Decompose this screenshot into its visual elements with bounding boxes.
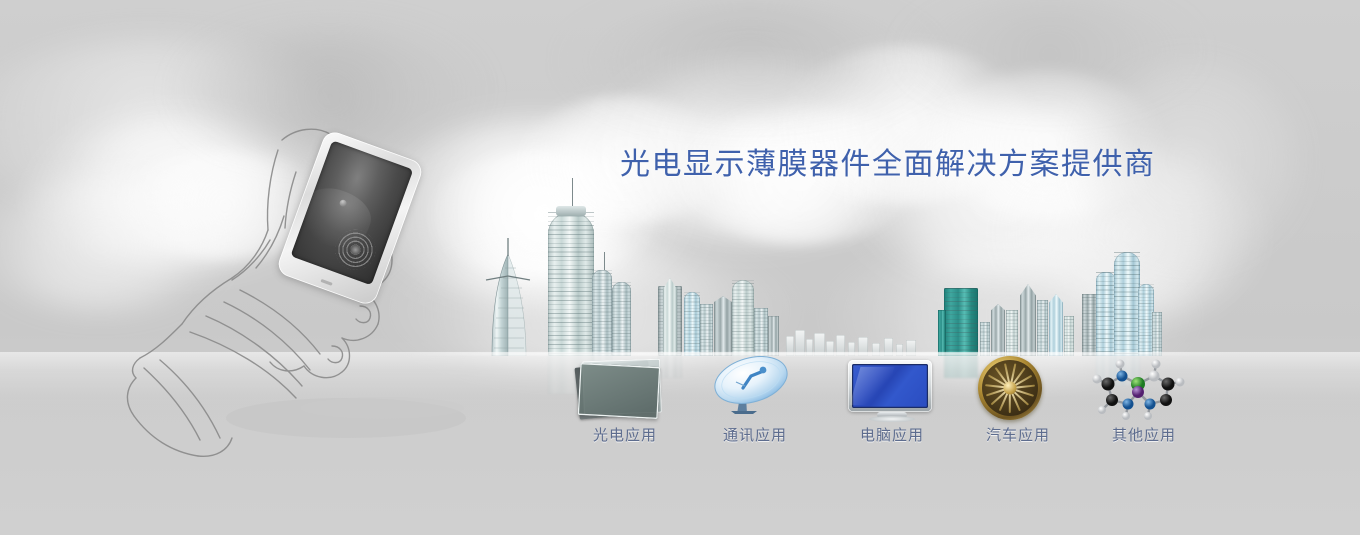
building-right-c bbox=[1006, 310, 1018, 356]
phone-home-button bbox=[320, 279, 332, 286]
building-right-a bbox=[980, 322, 990, 356]
application-icon-row: 光电应用 bbox=[0, 352, 1360, 472]
building-far-c bbox=[1114, 252, 1140, 356]
building-right-e bbox=[1037, 300, 1048, 356]
building-mid-g bbox=[754, 308, 768, 356]
building-mid-h bbox=[768, 316, 779, 356]
building-teal bbox=[944, 288, 978, 356]
satellite-dish-icon bbox=[685, 352, 825, 424]
film-sheets-icon bbox=[555, 352, 695, 424]
building-mid-d bbox=[700, 304, 713, 356]
application-label: 通讯应用 bbox=[685, 424, 825, 445]
building-tower-c bbox=[612, 282, 631, 356]
building-right-b bbox=[991, 304, 1005, 356]
hero-banner: 光电显示薄膜器件全面解决方案提供商 光电应用 bbox=[0, 0, 1360, 535]
building-mid-c bbox=[684, 292, 700, 356]
building-right-g bbox=[1064, 316, 1074, 356]
building-right-f bbox=[1049, 294, 1063, 356]
application-item-automotive[interactable]: 汽车应用 bbox=[948, 352, 1088, 445]
building-mid-f bbox=[732, 280, 754, 356]
building-mid-e bbox=[714, 296, 732, 356]
page-title: 光电显示薄膜器件全面解决方案提供商 bbox=[620, 139, 1156, 183]
building-teal-wing bbox=[938, 310, 946, 356]
monitor-icon bbox=[822, 352, 962, 424]
application-label: 电脑应用 bbox=[822, 424, 962, 445]
building-far-e bbox=[1152, 312, 1162, 356]
molecule-icon bbox=[1074, 352, 1214, 424]
building-tower-b bbox=[592, 270, 612, 356]
application-item-computer[interactable]: 电脑应用 bbox=[822, 352, 962, 445]
application-label: 其他应用 bbox=[1074, 424, 1214, 445]
application-label: 光电应用 bbox=[555, 424, 695, 445]
building-tower-main bbox=[548, 212, 594, 356]
application-item-optoelectronic[interactable]: 光电应用 bbox=[555, 352, 695, 445]
building-right-d bbox=[1020, 284, 1036, 356]
building-mid-b bbox=[663, 278, 677, 356]
sail-tower-icon bbox=[478, 238, 536, 356]
application-label: 汽车应用 bbox=[948, 424, 1088, 445]
application-item-communication[interactable]: 通讯应用 bbox=[685, 352, 825, 445]
car-wheel-icon bbox=[948, 352, 1088, 424]
application-item-other[interactable]: 其他应用 bbox=[1074, 352, 1214, 445]
building-far-b bbox=[1096, 272, 1116, 356]
